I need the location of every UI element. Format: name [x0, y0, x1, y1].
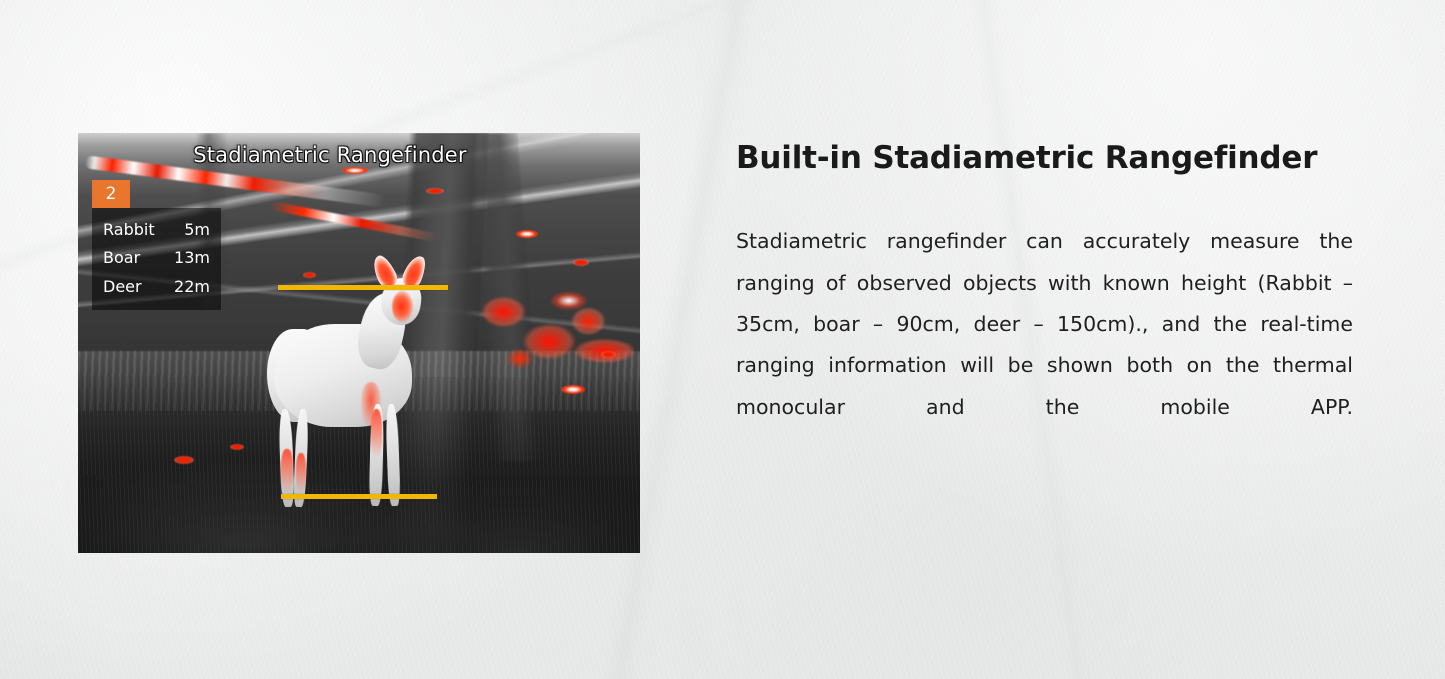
overlay-title: Stadiametric Rangefinder [78, 143, 640, 167]
hud-label-deer: Deer [103, 279, 142, 295]
rangefinder-line-top [278, 285, 448, 290]
hud-value-deer: 22m [174, 279, 210, 295]
hud-row-boar: Boar 13m [103, 250, 210, 266]
hud-label-rabbit: Rabbit [103, 222, 155, 238]
hud-row-rabbit: Rabbit 5m [103, 222, 210, 238]
deer-leg-heat [281, 449, 293, 494]
hot-leaf-litter-cluster [471, 284, 634, 376]
deer-leg-heat [296, 453, 306, 493]
deer-thermal-signature [263, 284, 432, 507]
deer-leg-front-right [385, 404, 400, 507]
hud-value-rabbit: 5m [184, 222, 210, 238]
hud-label-boar: Boar [103, 250, 140, 266]
rangefinder-line-bottom [281, 494, 437, 499]
hot-spot [230, 444, 244, 450]
hud-value-boar: 13m [174, 250, 210, 266]
hot-spot [426, 188, 444, 194]
content-column: Built-in Stadiametric Rangefinder Stadia… [736, 140, 1353, 470]
deer-leg-heat [371, 409, 383, 458]
hud-mode-badge[interactable]: 2 [92, 180, 130, 208]
page-title: Built-in Stadiametric Rangefinder [736, 140, 1353, 177]
hud-distance-panel: Rabbit 5m Boar 13m Deer 22m [92, 208, 221, 310]
hot-spot [303, 272, 316, 278]
hot-spot [342, 167, 368, 174]
rangefinder-hud: 2 Rabbit 5m Boar 13m Deer 22m [92, 180, 221, 310]
hot-spot [516, 230, 538, 238]
hud-row-deer: Deer 22m [103, 279, 210, 295]
thermal-deer-photo: Stadiametric Rangefinder 2 Rabbit 5m Boa… [78, 133, 640, 553]
body-paragraph: Stadiametric rangefinder can accurately … [736, 221, 1353, 469]
hot-spot [573, 259, 589, 266]
